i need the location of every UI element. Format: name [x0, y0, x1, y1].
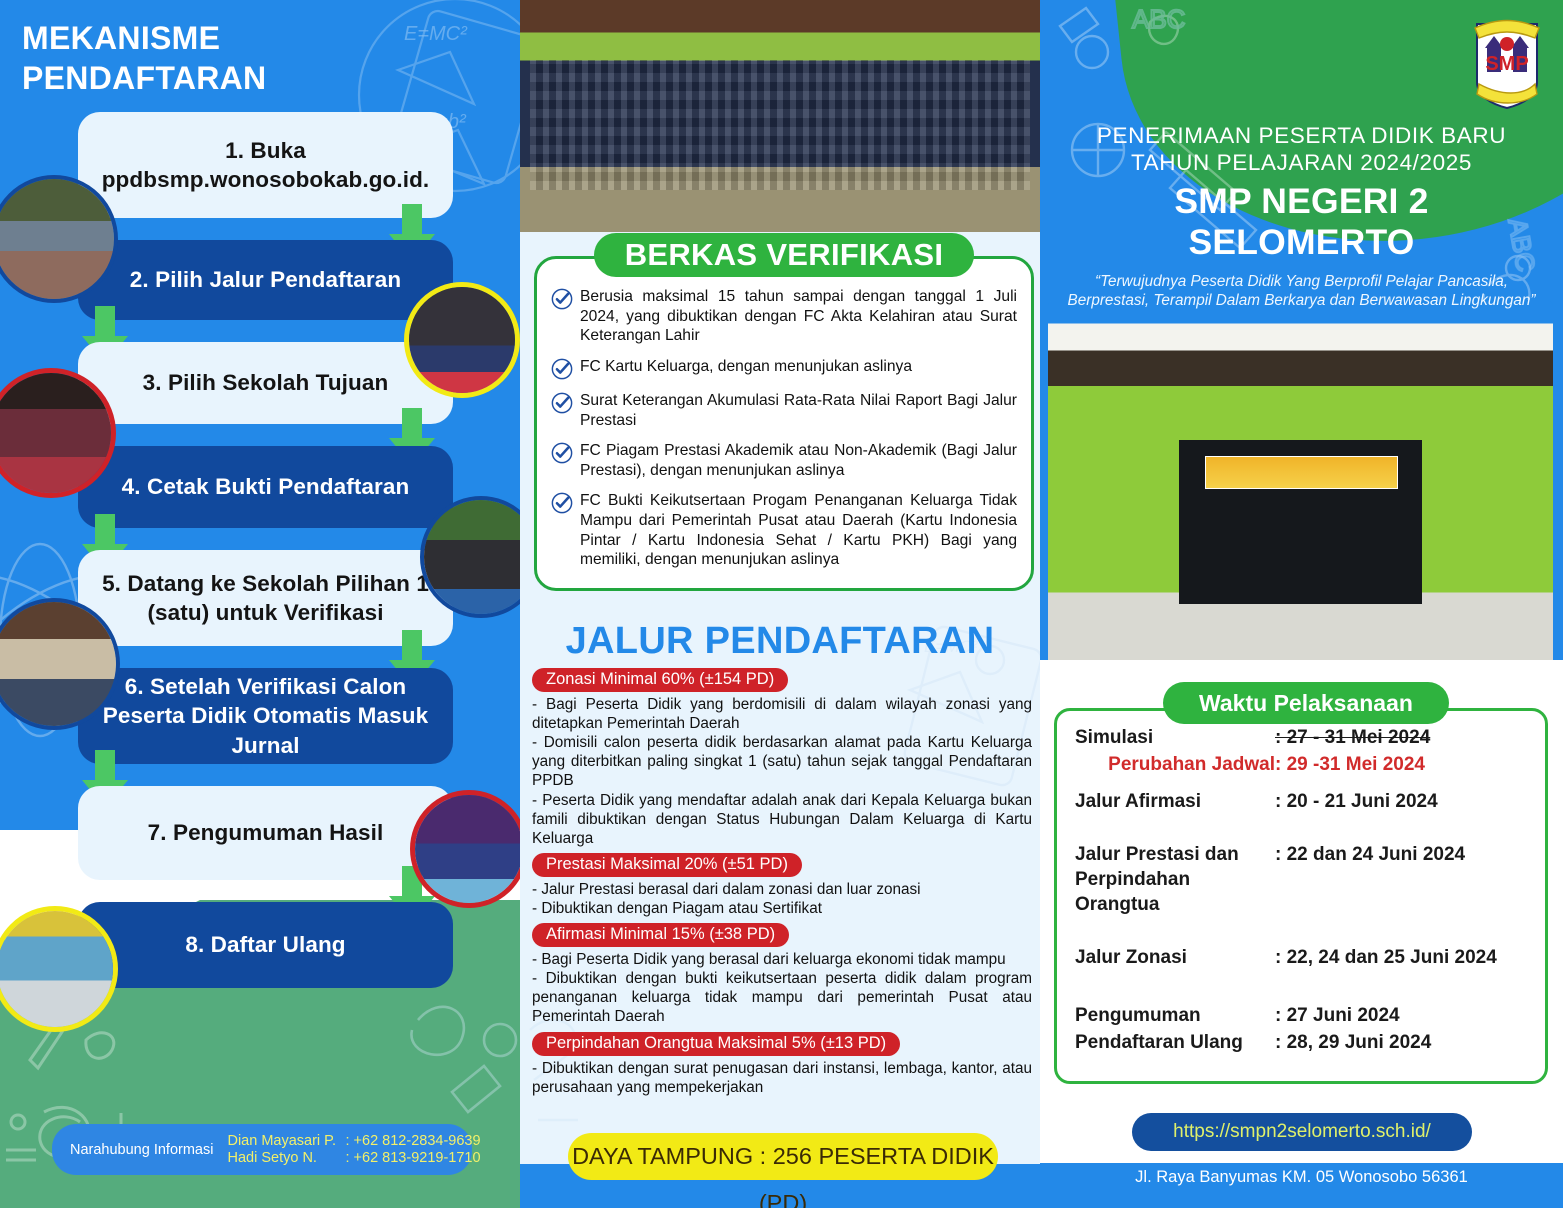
step-5-label: 5. Datang ke Sekolah Pilihan 1 (satu) un…: [100, 569, 431, 628]
contact-name: Dian Mayasari P.: [227, 1133, 345, 1149]
step-6[interactable]: 6. Setelah Verifikasi Calon Peserta Didi…: [78, 668, 453, 764]
check-icon: [551, 358, 573, 380]
schedule-value: : 27 Juni 2024: [1275, 1003, 1527, 1028]
jalur-group-afirmasi: Afirmasi Minimal 15% (±38 PD) - Bagi Pes…: [532, 923, 1032, 1026]
photo-school-building: ABU DATANG UNTUK BELAJAR DI SMP NEGERI 2…: [1048, 300, 1553, 690]
berkas-item: Surat Keterangan Akumulasi Rata-Rata Nil…: [551, 391, 1017, 430]
step-3-label: 3. Pilih Sekolah Tujuan: [143, 368, 389, 397]
mekanisme-step-list: 1. Bukappdbsmp.wonosobokab.go.id. 2. Pil…: [78, 112, 453, 988]
berkas-item-text: Berusia maksimal 15 tahun sampai dengan …: [580, 287, 1017, 346]
daya-tampung-badge: DAYA TAMPUNG : 256 PESERTA DIDIK (PD): [568, 1133, 998, 1180]
jalur-line: - Peserta Didik yang mendaftar adalah an…: [532, 791, 1032, 848]
schedule-label: Jalur Zonasi: [1075, 945, 1275, 970]
schedule-value: : 27 - 31 Mei 2024: [1275, 725, 1527, 750]
contact-info: Narahubung Informasi Dian Mayasari P. : …: [52, 1124, 472, 1175]
berkas-item: Berusia maksimal 15 tahun sampai dengan …: [551, 287, 1017, 346]
step-4-label: 4. Cetak Bukti Pendaftaran: [122, 472, 410, 501]
jalur-badge: Perpindahan Orangtua Maksimal 5% (±13 PD…: [532, 1032, 900, 1056]
jalur-body: - Bagi Peserta Didik yang berdomisili di…: [532, 695, 1032, 848]
jalur-line: - Dibuktikan dengan Piagam atau Sertifik…: [532, 899, 1032, 918]
header-line-1: PENERIMAAN PESERTA DIDIK BARU: [1060, 122, 1543, 149]
schedule-label: Jalur Prestasi dan Perpindahan Orangtua: [1075, 842, 1275, 917]
berkas-list: Berusia maksimal 15 tahun sampai dengan …: [551, 287, 1017, 570]
berkas-item-text: Surat Keterangan Akumulasi Rata-Rata Nil…: [580, 391, 1017, 430]
schedule-card: Simulasi : 27 - 31 Mei 2024 Perubahan Ja…: [1054, 708, 1548, 1084]
jalur-section-title: JALUR PENDAFTARAN: [520, 620, 1040, 663]
school-logo-icon: SMP: [1469, 14, 1545, 110]
schedule-row-pengumuman: Pengumuman : 27 Juni 2024: [1075, 1003, 1527, 1028]
berkas-item: FC Kartu Keluarga, dengan menunjukan asl…: [551, 357, 1017, 380]
check-icon: [551, 288, 573, 310]
jalur-group-perpindahan: Perpindahan Orangtua Maksimal 5% (±13 PD…: [532, 1032, 1032, 1097]
schedule-value: : 22, 24 dan 25 Juni 2024: [1275, 945, 1527, 970]
page-title-line1: MEKANISME: [22, 18, 266, 58]
photo-circle-6: [410, 790, 520, 908]
contact-phone[interactable]: : +62 812-2834-9639: [345, 1133, 480, 1149]
jalur-line: - Dibuktikan dengan surat penugasan dari…: [532, 1059, 1032, 1097]
jalur-body: - Dibuktikan dengan surat penugasan dari…: [532, 1059, 1032, 1097]
step-2[interactable]: 2. Pilih Jalur Pendaftaran: [78, 240, 453, 320]
jalur-line: - Dibuktikan dengan bukti keikutsertaan …: [532, 969, 1032, 1026]
photo-group-students: [520, 0, 1040, 232]
schedule-value: : 28, 29 Juni 2024: [1275, 1030, 1527, 1055]
svg-text:E=MC²: E=MC²: [404, 23, 468, 45]
check-icon: [551, 392, 573, 414]
step-6-label: 6. Setelah Verifikasi Calon Peserta Didi…: [100, 672, 431, 760]
page-title-line2: PENDAFTARAN: [22, 58, 266, 98]
building-sign-line2: DI SMP NEGERI 2 SELOMERTO: [1215, 471, 1387, 480]
step-2-label: 2. Pilih Jalur Pendaftaran: [130, 265, 401, 294]
schedule-value: : 22 dan 24 Juni 2024: [1275, 842, 1527, 917]
step-1-label: 1. Bukappdbsmp.wonosobokab.go.id.: [102, 136, 430, 195]
berkas-verifikasi-card: Berusia maksimal 15 tahun sampai dengan …: [534, 256, 1034, 591]
jalur-line: - Bagi Peserta Didik yang berasal dari k…: [532, 950, 1032, 969]
school-header: PENERIMAAN PESERTA DIDIK BARU TAHUN PELA…: [1060, 122, 1543, 311]
schedule-value: : 20 - 21 Juni 2024: [1275, 789, 1527, 814]
website-link[interactable]: https://smpn2selomerto.sch.id/: [1132, 1113, 1472, 1151]
schedule-row-perubahan: Perubahan Jadwal : 29 -31 Mei 2024: [1075, 752, 1527, 777]
berkas-section-title: BERKAS VERIFIKASI: [594, 233, 974, 277]
jalur-line: - Bagi Peserta Didik yang berdomisili di…: [532, 695, 1032, 733]
poster-root: E=MC² ab=b²: [0, 0, 1563, 1208]
schedule-row-zonasi: Jalur Zonasi : 22, 24 dan 25 Juni 2024: [1075, 945, 1527, 970]
schedule-row-simulasi: Simulasi : 27 - 31 Mei 2024: [1075, 725, 1527, 750]
berkas-item-text: FC Kartu Keluarga, dengan menunjukan asl…: [580, 357, 912, 380]
jalur-badge: Afirmasi Minimal 15% (±38 PD): [532, 923, 789, 947]
jalur-body: - Jalur Prestasi berasal dari dalam zona…: [532, 880, 1032, 918]
school-name: SMP NEGERI 2 SELOMERTO: [1060, 181, 1543, 263]
contact-phone[interactable]: : +62 813-9219-1710: [345, 1150, 480, 1166]
column-mekanisme: E=MC² ab=b²: [0, 0, 520, 1208]
contact-label: Narahubung Informasi: [70, 1142, 213, 1158]
berkas-item-text: FC Bukti Keikutsertaan Progam Penanganan…: [580, 491, 1017, 570]
berkas-item-text: FC Piagam Prestasi Akademik atau Non-Aka…: [580, 441, 1017, 480]
jalur-group-zonasi: Zonasi Minimal 60% (±154 PD) - Bagi Pese…: [532, 668, 1032, 848]
photo-circle-2: [404, 282, 520, 398]
jalur-badge: Prestasi Maksimal 20% (±51 PD): [532, 853, 802, 877]
step-7-label: 7. Pengumuman Hasil: [148, 818, 384, 847]
berkas-item: FC Piagam Prestasi Akademik atau Non-Aka…: [551, 441, 1017, 480]
page-title: MEKANISME PENDAFTARAN: [22, 18, 266, 98]
contact-row: Dian Mayasari P. : +62 812-2834-9639: [227, 1133, 480, 1149]
step-8-label: 8. Daftar Ulang: [185, 930, 345, 959]
building-sign-line1: ABU DATANG UNTUK BELAJAR: [1215, 462, 1387, 471]
step-1[interactable]: 1. Bukappdbsmp.wonosobokab.go.id.: [78, 112, 453, 218]
berkas-item: FC Bukti Keikutsertaan Progam Penanganan…: [551, 491, 1017, 570]
contact-name: Hadi Setyo N.: [227, 1150, 345, 1166]
jalur-badge: Zonasi Minimal 60% (±154 PD): [532, 668, 788, 692]
header-line-2: TAHUN PELAJARAN 2024/2025: [1060, 149, 1543, 176]
schedule-row-afirmasi: Jalur Afirmasi : 20 - 21 Juni 2024: [1075, 789, 1527, 814]
schedule-value: : 29 -31 Mei 2024: [1275, 752, 1527, 777]
schedule-label: Perubahan Jadwal: [1075, 752, 1275, 777]
schedule-row-prestasi: Jalur Prestasi dan Perpindahan Orangtua …: [1075, 842, 1527, 917]
step-4[interactable]: 4. Cetak Bukti Pendaftaran: [78, 446, 453, 528]
jalur-body: - Bagi Peserta Didik yang berasal dari k…: [532, 950, 1032, 1026]
schedule-label: Simulasi: [1075, 725, 1275, 750]
schedule-label: Pengumuman: [1075, 1003, 1275, 1028]
contact-row: Hadi Setyo N. : +62 813-9219-1710: [227, 1150, 480, 1166]
step-8[interactable]: 8. Daftar Ulang: [78, 902, 453, 988]
check-icon: [551, 492, 573, 514]
schedule-row-daftar-ulang: Pendaftaran Ulang : 28, 29 Juni 2024: [1075, 1030, 1527, 1055]
schedule-label: Pendaftaran Ulang: [1075, 1030, 1275, 1055]
school-address: Jl. Raya Banyumas KM. 05 Wonosobo 56361: [1040, 1168, 1563, 1187]
check-icon: [551, 442, 573, 464]
jalur-list: Zonasi Minimal 60% (±154 PD) - Bagi Pese…: [532, 668, 1032, 1102]
jalur-group-prestasi: Prestasi Maksimal 20% (±51 PD) - Jalur P…: [532, 853, 1032, 918]
schedule-title-badge: Waktu Pelaksanaan: [1163, 682, 1449, 724]
building-sign-line3: KABUPATEN WONOSOBO: [1215, 479, 1387, 488]
logo-text: SMP: [1485, 53, 1528, 75]
school-motto: “Terwujudnya Peserta Didik Yang Berprofi…: [1060, 272, 1543, 311]
schedule-label: Jalur Afirmasi: [1075, 789, 1275, 814]
jalur-line: - Jalur Prestasi berasal dari dalam zona…: [532, 880, 1032, 899]
jalur-line: - Domisili calon peserta didik berdasark…: [532, 733, 1032, 790]
